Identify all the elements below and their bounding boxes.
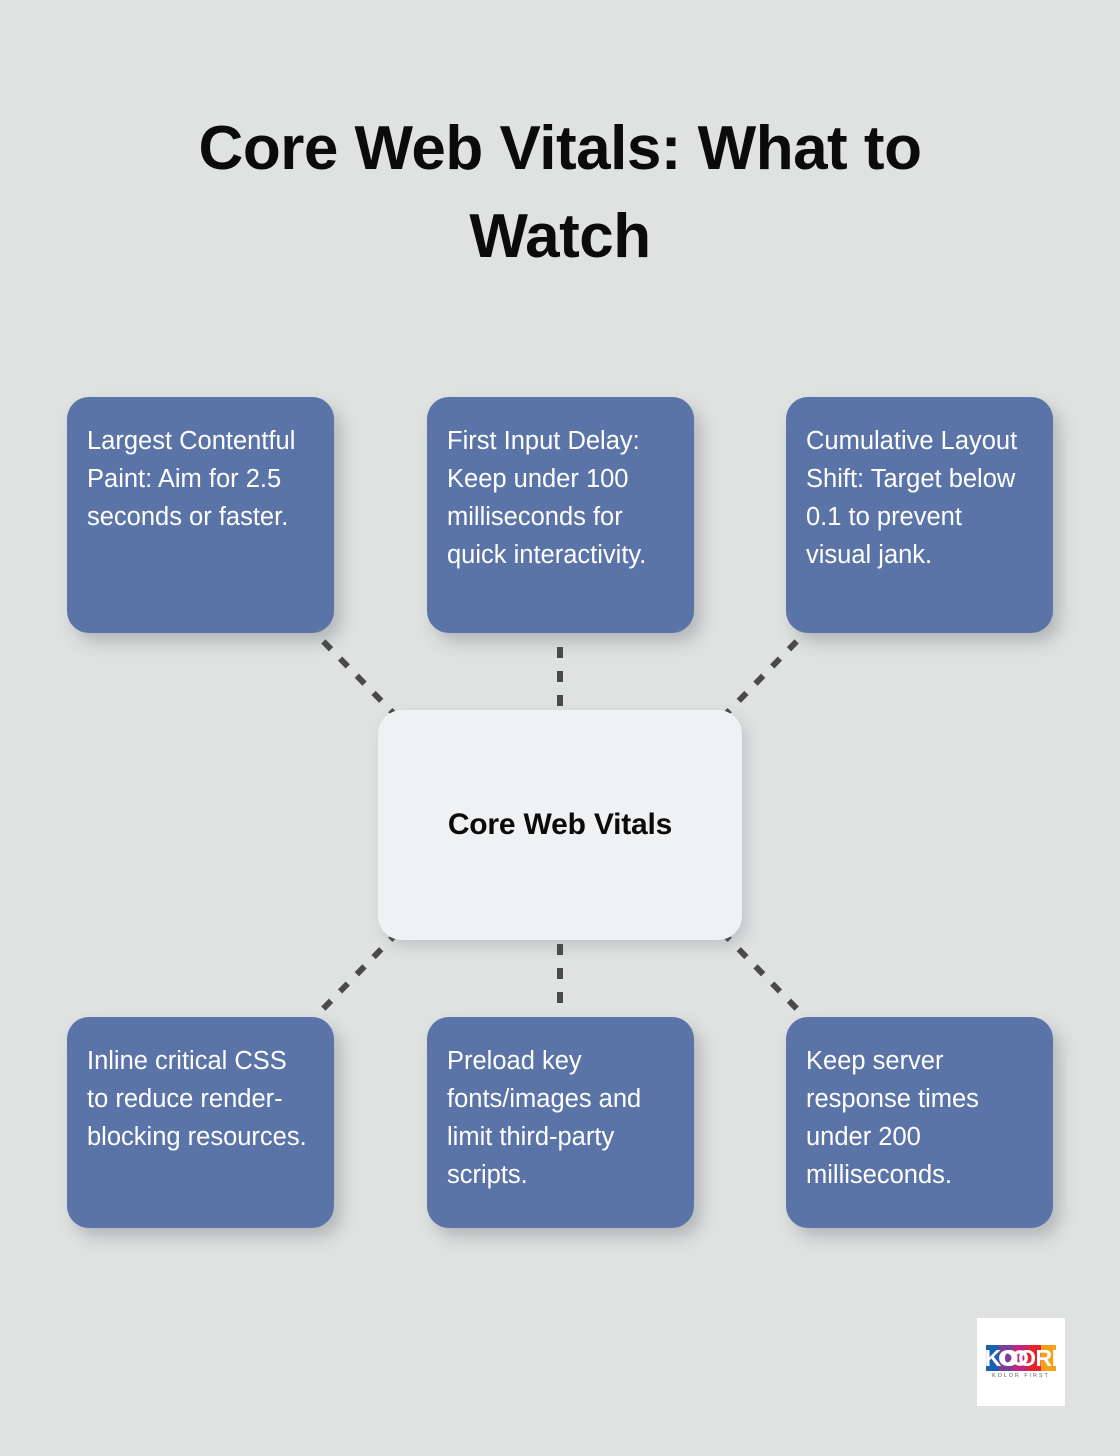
page-title: Core Web Vitals: What to Watch xyxy=(120,105,1000,281)
tip-card-preload-text: Preload key fonts/images and limit third… xyxy=(447,1043,670,1195)
brand-logo-tagline: KOLOR FIRST xyxy=(992,1373,1050,1379)
brand-logo-wordmark-icon: KOORI xyxy=(986,1345,1056,1371)
brand-logo: KOORI KOLOR FIRST xyxy=(977,1318,1065,1406)
metric-card-lcp[interactable]: Largest Contentful Paint: Aim for 2.5 se… xyxy=(67,397,334,633)
central-hub-label: Core Web Vitals xyxy=(448,808,672,842)
connector-hub-to-lcp xyxy=(322,640,398,718)
infographic-canvas: Core Web Vitals: What to Watch Largest C… xyxy=(0,0,1120,1456)
connector-hub-to-cls xyxy=(722,640,798,718)
tip-card-inline-css[interactable]: Inline critical CSS to reduce render-blo… xyxy=(67,1017,334,1228)
metric-card-cls[interactable]: Cumulative Layout Shift: Target below 0.… xyxy=(786,397,1053,633)
tip-card-server-response-text: Keep server response times under 200 mil… xyxy=(806,1043,1029,1195)
central-hub-node[interactable]: Core Web Vitals xyxy=(378,710,742,940)
connector-hub-to-server xyxy=(722,932,798,1010)
tip-card-inline-css-text: Inline critical CSS to reduce render-blo… xyxy=(87,1043,310,1157)
tip-card-preload[interactable]: Preload key fonts/images and limit third… xyxy=(427,1017,694,1228)
tip-card-server-response[interactable]: Keep server response times under 200 mil… xyxy=(786,1017,1053,1228)
metric-card-fid-text: First Input Delay: Keep under 100 millis… xyxy=(447,423,670,575)
metric-card-fid[interactable]: First Input Delay: Keep under 100 millis… xyxy=(427,397,694,633)
metric-card-lcp-text: Largest Contentful Paint: Aim for 2.5 se… xyxy=(87,423,310,537)
connector-hub-to-css xyxy=(322,932,398,1010)
metric-card-cls-text: Cumulative Layout Shift: Target below 0.… xyxy=(806,423,1029,575)
svg-text:KOORI: KOORI xyxy=(986,1345,1056,1371)
